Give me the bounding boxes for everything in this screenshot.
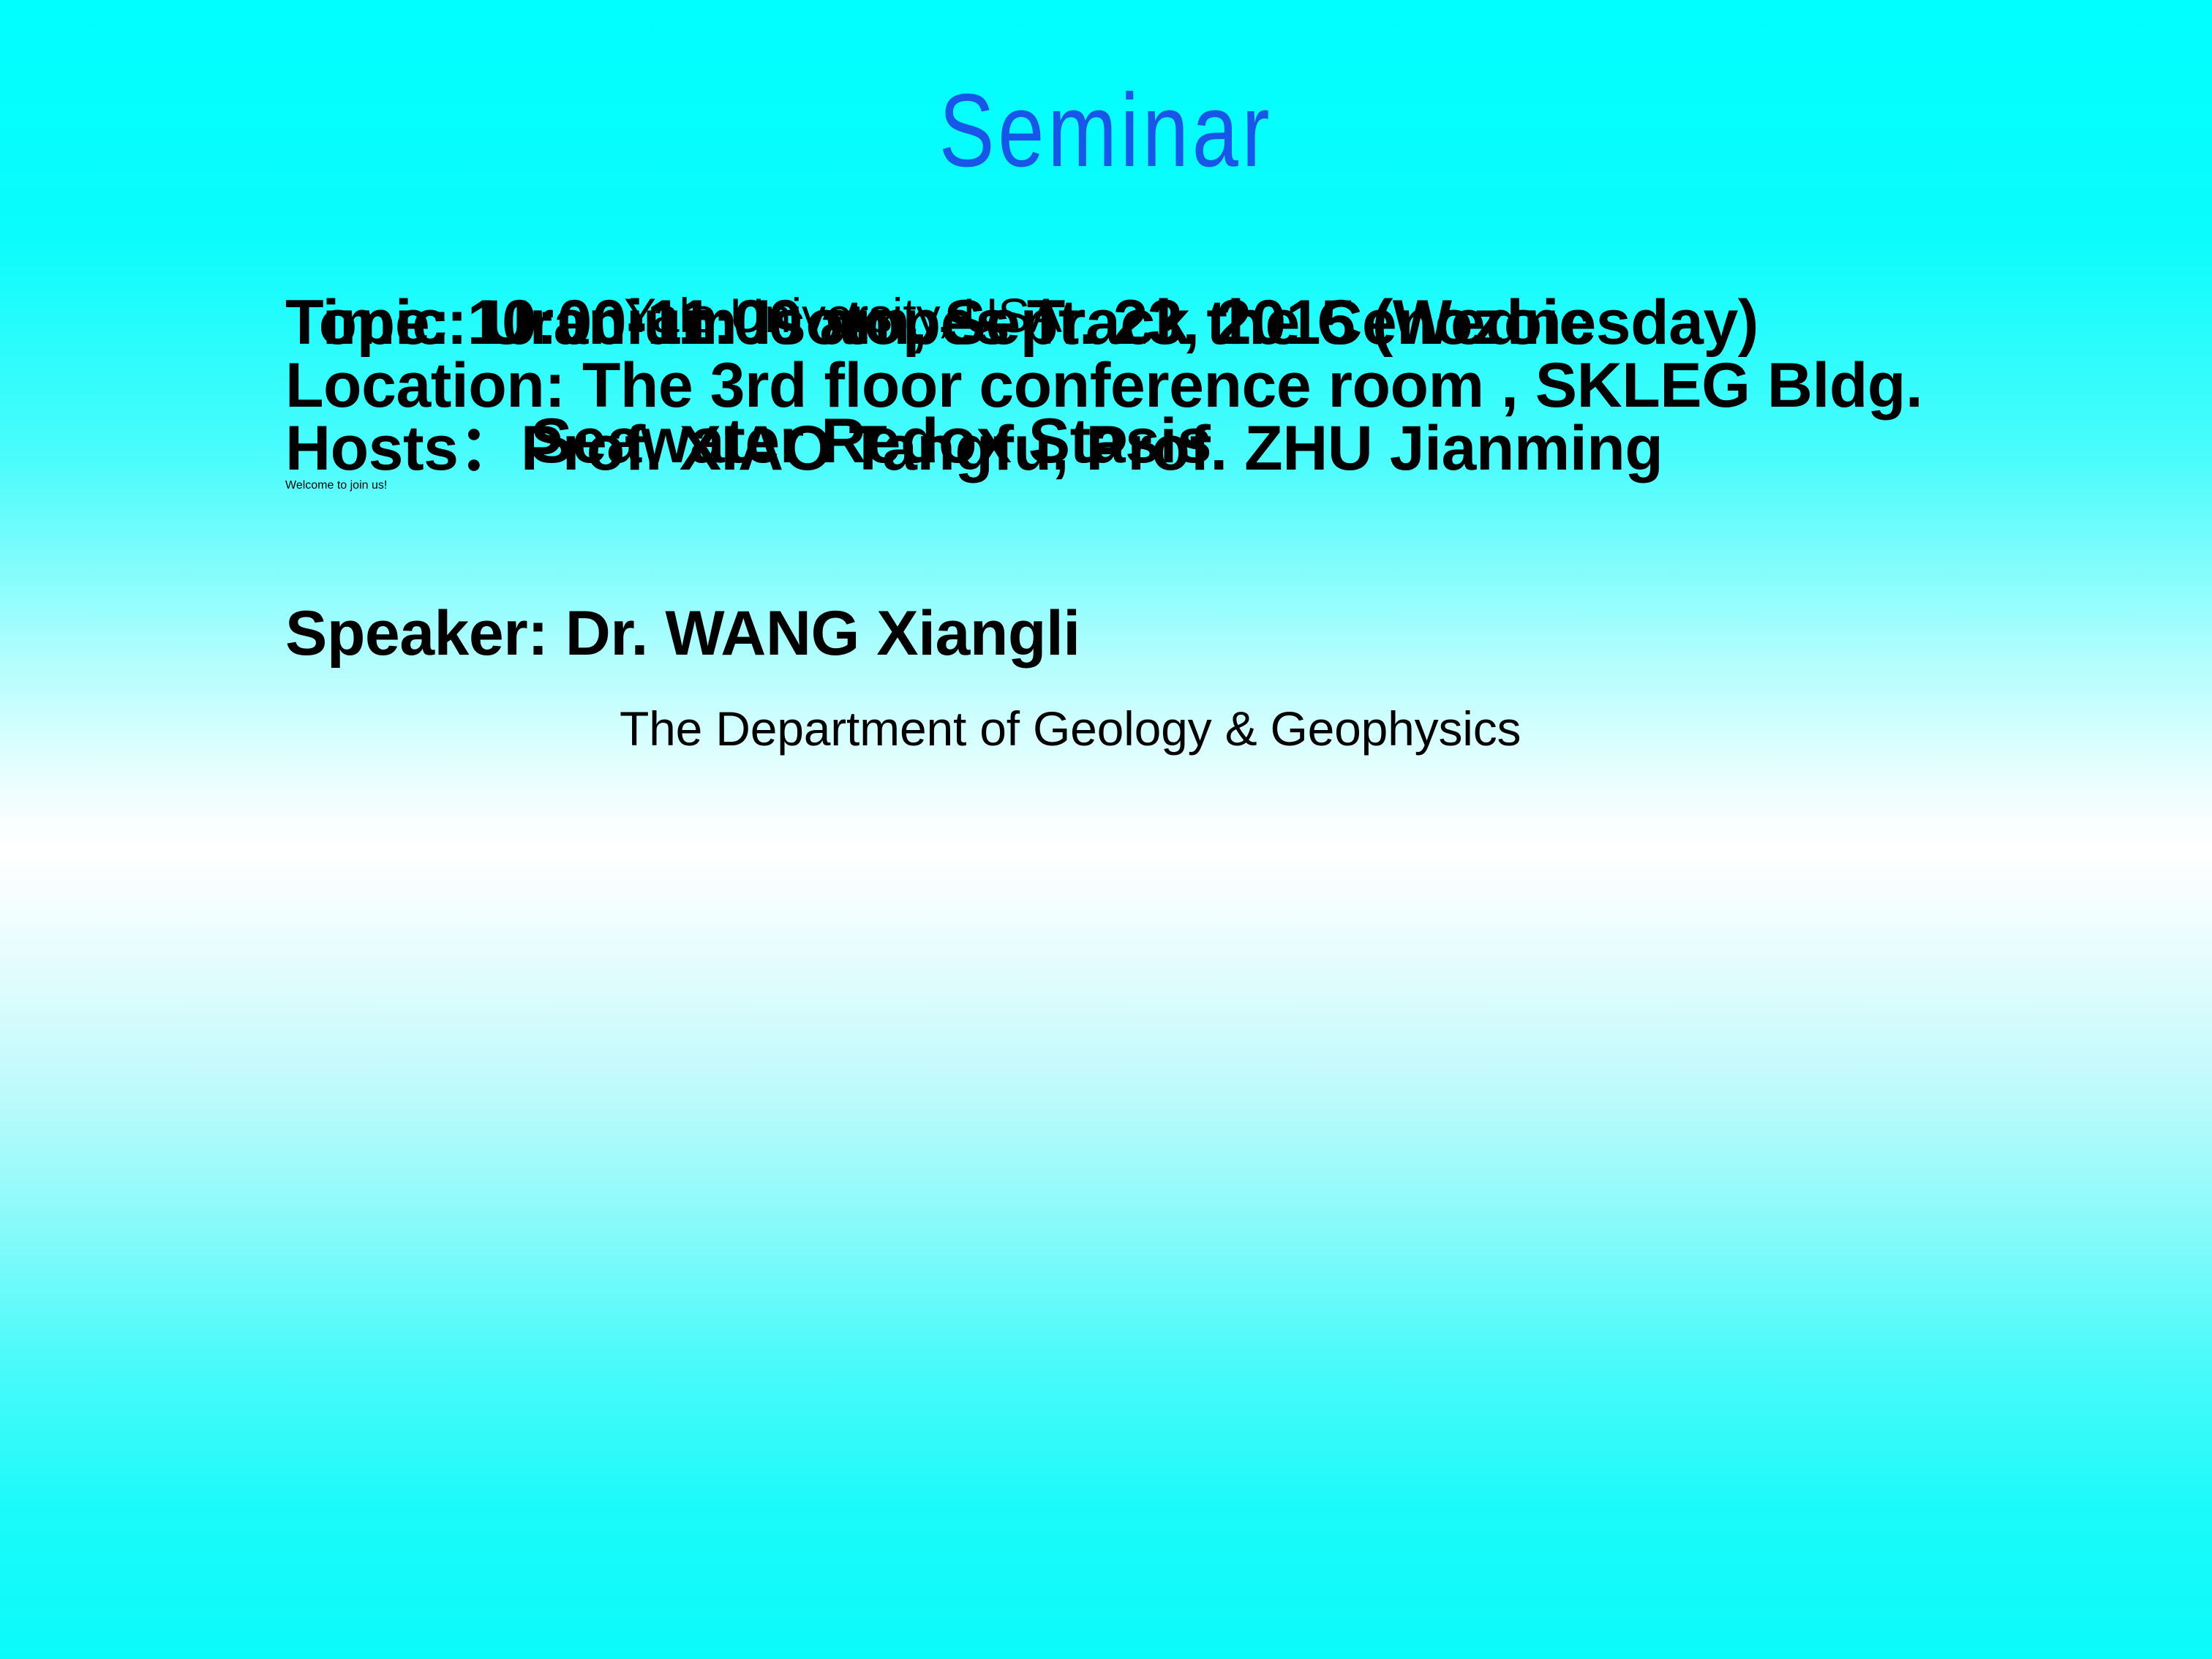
seminar-announcement-slide: Seminar Topic: Uranium Isotopes Track th… [0, 0, 2212, 1659]
speaker-line: Speaker: Dr. WANG Xiangli [285, 602, 1080, 665]
topic-line-2: Seawater Redox Stasis [530, 410, 1211, 473]
speaker-affiliation-university: Yale University, USA [624, 291, 1062, 339]
seminar-details: Topic: Uranium Isotopes Track the Cenozo… [285, 291, 2158, 492]
speaker-affiliation-department: The Department of Geology & Geophysics [620, 704, 1521, 753]
page-title: Seminar [221, 79, 1990, 183]
